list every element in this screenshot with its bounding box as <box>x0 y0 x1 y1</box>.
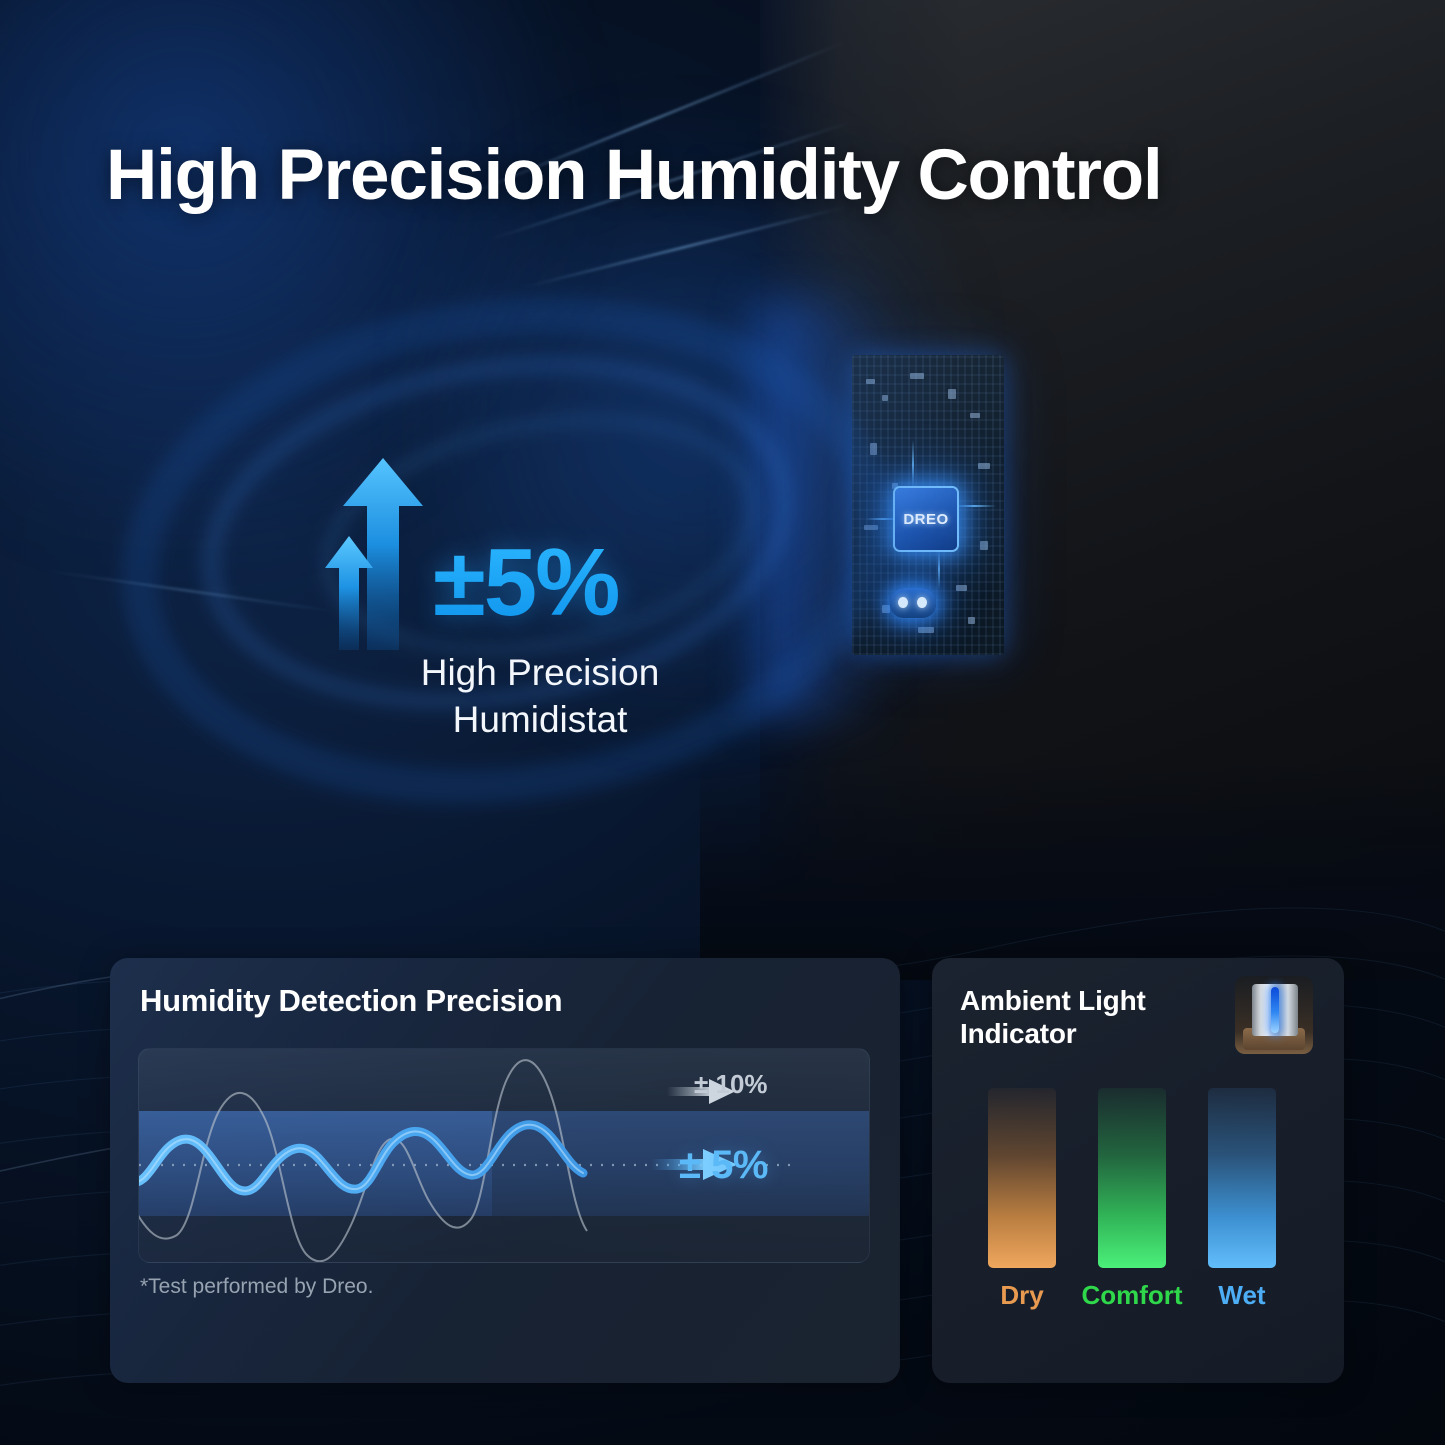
precision-footnote: *Test performed by Dreo. <box>140 1275 373 1299</box>
ambient-title-line2: Indicator <box>960 1017 1190 1050</box>
ambient-card-title: Ambient Light Indicator <box>960 984 1190 1050</box>
hero-caption: High Precision Humidistat <box>370 650 710 744</box>
ambient-light-card: Ambient Light Indicator Dry Comfort Wet <box>932 958 1344 1383</box>
precision-card-title: Humidity Detection Precision <box>140 983 562 1019</box>
wave-10pct <box>139 1060 587 1261</box>
humidifier-thumbnail-icon <box>1235 976 1313 1054</box>
arrow-up-icon <box>325 450 435 650</box>
bar-dry <box>988 1088 1056 1268</box>
bar-wet <box>1208 1088 1276 1268</box>
wave-5pct <box>139 1125 583 1191</box>
tolerance-label-5: ± 5% <box>679 1143 768 1188</box>
ambient-light-bars: Dry Comfort Wet <box>962 1088 1314 1328</box>
page-title: High Precision Humidity Control <box>106 140 1366 211</box>
bar-label-comfort: Comfort <box>1077 1280 1187 1311</box>
bar-comfort <box>1098 1088 1166 1268</box>
bar-label-dry: Dry <box>967 1280 1077 1311</box>
hero-stat: ±5% High Precision Humidistat <box>325 450 745 750</box>
tolerance-label-10: ± 10% <box>694 1069 768 1100</box>
bar-label-wet: Wet <box>1187 1280 1297 1311</box>
hero-caption-line2: Humidistat <box>370 697 710 744</box>
marketing-banner: DREO High Precision Humidity Control <box>0 0 1445 1445</box>
precision-chart: ± 10% ± 5% <box>138 1048 870 1263</box>
hero-caption-line1: High Precision <box>370 650 710 697</box>
ambient-title-line1: Ambient Light <box>960 984 1190 1017</box>
hero-value: ±5% <box>433 535 618 631</box>
precision-card: Humidity Detection Precision <box>110 958 900 1383</box>
